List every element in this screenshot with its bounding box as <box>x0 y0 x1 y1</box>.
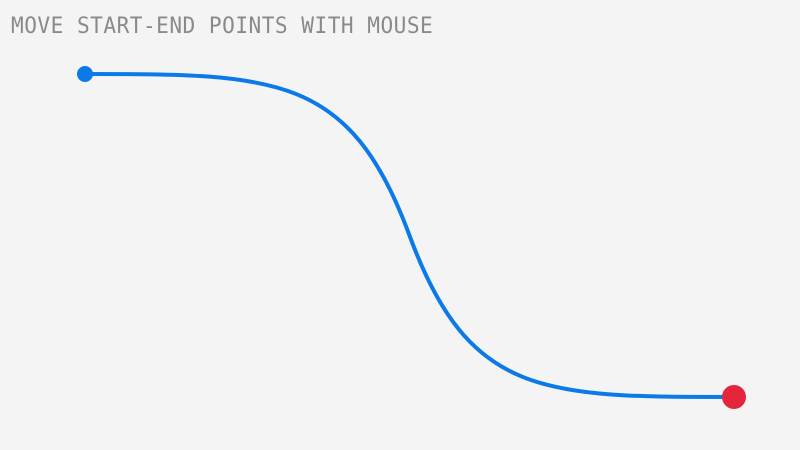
bezier-canvas[interactable] <box>0 0 800 450</box>
start-point-handle[interactable] <box>77 66 93 82</box>
app-root: MOVE START-END POINTS WITH MOUSE <box>0 0 800 450</box>
end-point-handle[interactable] <box>722 385 746 409</box>
bezier-curve <box>85 74 734 397</box>
